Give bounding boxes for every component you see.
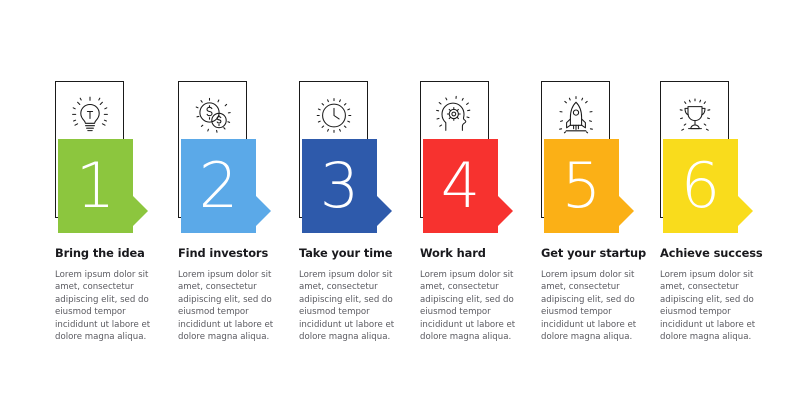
step-5-number-block: 5: [544, 139, 638, 233]
step-4-title: Work hard: [420, 246, 538, 260]
step-3-title: Take your time: [299, 246, 417, 260]
step-1-title: Bring the idea: [55, 246, 173, 260]
step-5-numeral: 5: [544, 139, 619, 233]
step-6-numeral: 6: [663, 139, 738, 233]
step-6-arrow-icon: [737, 195, 753, 227]
step-3-number-block: 3: [302, 139, 396, 233]
step-2-number-block: 2: [181, 139, 275, 233]
step-2-text: Find investors Lorem ipsum dolor sit ame…: [178, 246, 296, 343]
process-infographic: 1 Bring the idea Lorem ipsum dolor sit a…: [0, 0, 800, 402]
step-2-title: Find investors: [178, 246, 296, 260]
step-6[interactable]: 6 Achieve success Lorem ipsum dolor sit …: [656, 0, 780, 402]
step-4-description: Lorem ipsum dolor sit amet, consectetur …: [420, 269, 524, 343]
step-5-title: Get your startup: [541, 246, 659, 260]
clock-icon: [300, 90, 367, 142]
step-5-text: Get your startup Lorem ipsum dolor sit a…: [541, 246, 659, 343]
step-6-title: Achieve success: [660, 246, 778, 260]
step-1[interactable]: 1 Bring the idea Lorem ipsum dolor sit a…: [51, 0, 175, 402]
trophy-icon: [661, 90, 728, 142]
step-6-description: Lorem ipsum dolor sit amet, consectetur …: [660, 269, 764, 343]
step-2-numeral: 2: [181, 139, 256, 233]
step-3-text: Take your time Lorem ipsum dolor sit ame…: [299, 246, 417, 343]
step-2-arrow-icon: [255, 195, 271, 227]
step-1-text: Bring the idea Lorem ipsum dolor sit ame…: [55, 246, 173, 343]
step-5-description: Lorem ipsum dolor sit amet, consectetur …: [541, 269, 645, 343]
step-5[interactable]: 5 Get your startup Lorem ipsum dolor sit…: [537, 0, 661, 402]
lightbulb-icon: [56, 90, 123, 142]
step-6-text: Achieve success Lorem ipsum dolor sit am…: [660, 246, 778, 343]
step-4-text: Work hard Lorem ipsum dolor sit amet, co…: [420, 246, 538, 343]
step-3-numeral: 3: [302, 139, 377, 233]
step-1-description: Lorem ipsum dolor sit amet, consectetur …: [55, 269, 159, 343]
step-3-description: Lorem ipsum dolor sit amet, consectetur …: [299, 269, 403, 343]
step-5-arrow-icon: [618, 195, 634, 227]
money-coins-icon: [179, 90, 246, 142]
step-4-number-block: 4: [423, 139, 517, 233]
step-4[interactable]: 4 Work hard Lorem ipsum dolor sit amet, …: [416, 0, 540, 402]
step-1-arrow-icon: [132, 195, 148, 227]
step-3[interactable]: 3 Take your time Lorem ipsum dolor sit a…: [295, 0, 419, 402]
step-6-number-block: 6: [663, 139, 757, 233]
step-1-numeral: 1: [58, 139, 133, 233]
head-gear-icon: [421, 90, 488, 142]
step-2-description: Lorem ipsum dolor sit amet, consectetur …: [178, 269, 282, 343]
rocket-icon: [542, 90, 609, 142]
step-1-number-block: 1: [58, 139, 152, 233]
step-2[interactable]: 2 Find investors Lorem ipsum dolor sit a…: [174, 0, 298, 402]
step-4-arrow-icon: [497, 195, 513, 227]
step-4-numeral: 4: [423, 139, 498, 233]
step-3-arrow-icon: [376, 195, 392, 227]
